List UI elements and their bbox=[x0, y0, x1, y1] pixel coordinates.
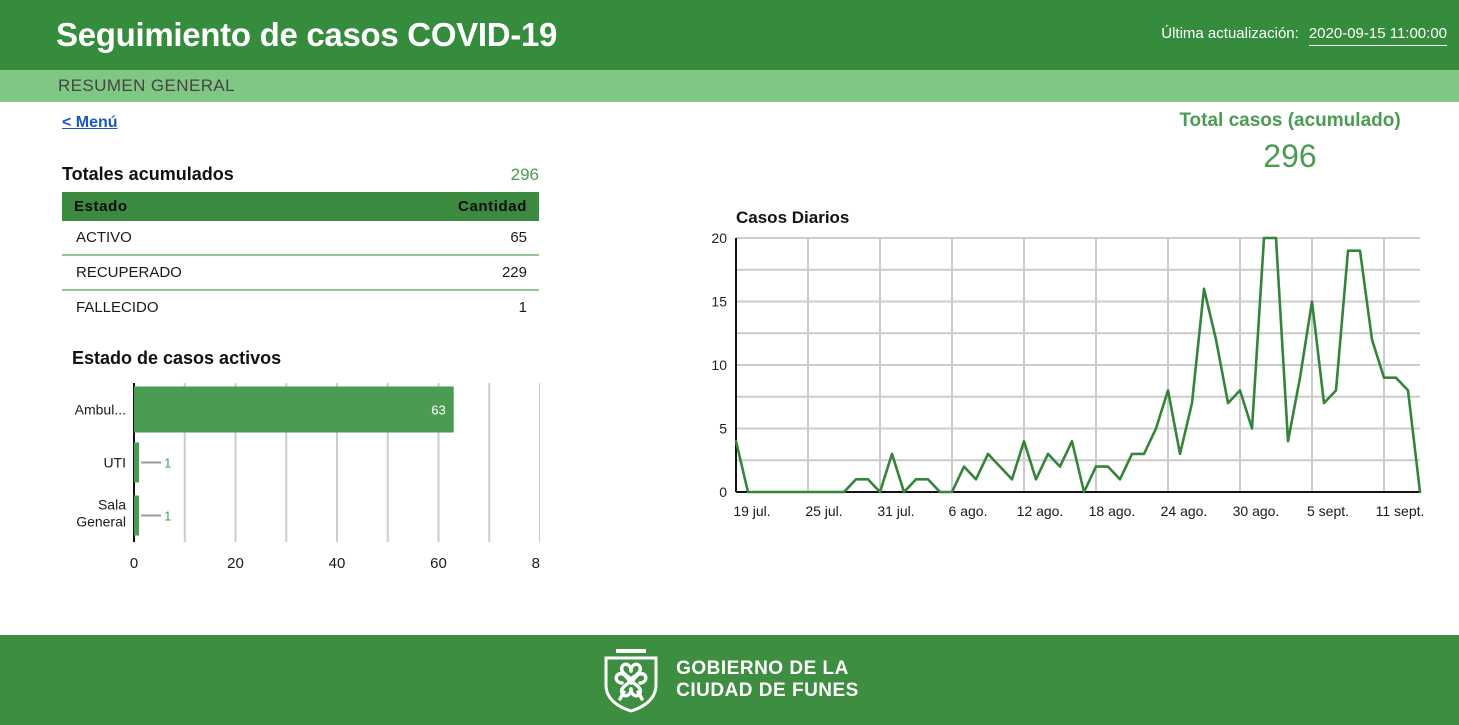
footer-logo-line-1: GOBIERNO DE LA bbox=[676, 658, 859, 680]
line-chart-title: Casos Diarios bbox=[736, 208, 849, 228]
svg-text:1: 1 bbox=[164, 509, 171, 524]
svg-text:30 ago.: 30 ago. bbox=[1233, 503, 1280, 519]
table-row: FALLECIDO 1 bbox=[62, 290, 539, 324]
table-row: ACTIVO 65 bbox=[62, 221, 539, 255]
cell-cantidad: 229 bbox=[301, 255, 540, 290]
svg-text:Sala: Sala bbox=[98, 497, 126, 513]
table-row: RECUPERADO 229 bbox=[62, 255, 539, 290]
bar-chart: Ambul...63UTI1SalaGeneral1020406080 bbox=[62, 377, 540, 572]
svg-text:80: 80 bbox=[532, 555, 540, 572]
svg-text:20: 20 bbox=[227, 555, 244, 572]
column-header-estado[interactable]: Estado bbox=[62, 192, 301, 221]
last-update-underline bbox=[1309, 45, 1447, 46]
right-column: Total casos (acumulado) 296 Casos Diario… bbox=[690, 102, 1450, 662]
svg-text:5: 5 bbox=[719, 421, 727, 437]
shield-clover-icon bbox=[600, 647, 662, 713]
svg-text:31 jul.: 31 jul. bbox=[877, 503, 914, 519]
svg-text:40: 40 bbox=[329, 555, 346, 572]
cell-estado: RECUPERADO bbox=[62, 255, 301, 290]
column-header-cantidad[interactable]: Cantidad bbox=[301, 192, 540, 221]
bar-chart-title: Estado de casos activos bbox=[72, 348, 542, 369]
svg-text:10: 10 bbox=[711, 357, 727, 373]
svg-text:25 jul.: 25 jul. bbox=[805, 503, 842, 519]
totals-table-body: ACTIVO 65 RECUPERADO 229 FALLECIDO 1 bbox=[62, 221, 539, 324]
last-update-value-wrap: 2020-09-15 11:00:00 bbox=[1309, 25, 1447, 46]
main-content: < Menú Totales acumulados 296 Estado Can… bbox=[0, 102, 1459, 690]
totals-table-head: Estado Cantidad bbox=[62, 192, 539, 221]
svg-text:15: 15 bbox=[711, 294, 727, 310]
svg-text:General: General bbox=[76, 514, 126, 530]
bar-chart-svg: Ambul...63UTI1SalaGeneral1020406080 bbox=[62, 377, 540, 572]
section-subheader-label: RESUMEN GENERAL bbox=[58, 76, 235, 96]
totals-table: Estado Cantidad ACTIVO 65 RECUPERADO 229… bbox=[62, 192, 539, 324]
section-subheader: RESUMEN GENERAL bbox=[0, 70, 1459, 102]
site-footer: GOBIERNO DE LA CIUDAD DE FUNES bbox=[0, 635, 1459, 725]
svg-text:11 sept.: 11 sept. bbox=[1376, 503, 1425, 519]
totals-total-value: 296 bbox=[511, 165, 539, 185]
svg-text:6 ago.: 6 ago. bbox=[949, 503, 988, 519]
cell-cantidad: 65 bbox=[301, 221, 540, 255]
kpi-label: Total casos (acumulado) bbox=[1140, 110, 1440, 132]
svg-text:Ambul...: Ambul... bbox=[75, 402, 126, 418]
footer-logo-line-2: CIUDAD DE FUNES bbox=[676, 680, 859, 702]
last-update-label: Última actualización: bbox=[1161, 25, 1299, 42]
totals-header: Totales acumulados 296 bbox=[62, 164, 542, 185]
total-cases-kpi: Total casos (acumulado) 296 bbox=[1140, 110, 1440, 175]
left-column: Totales acumulados 296 Estado Cantidad A… bbox=[62, 164, 542, 572]
page-title: Seguimiento de casos COVID-19 bbox=[56, 16, 557, 54]
last-update-block: Última actualización: 2020-09-15 11:00:0… bbox=[1161, 25, 1451, 46]
svg-text:18 ago.: 18 ago. bbox=[1089, 503, 1136, 519]
footer-logo-text: GOBIERNO DE LA CIUDAD DE FUNES bbox=[676, 658, 859, 703]
totals-header-row: Estado Cantidad bbox=[62, 192, 539, 221]
cell-cantidad: 1 bbox=[301, 290, 540, 324]
last-update-value: 2020-09-15 11:00:00 bbox=[1309, 25, 1447, 45]
totals-title: Totales acumulados bbox=[62, 164, 234, 185]
cell-estado: ACTIVO bbox=[62, 221, 301, 255]
svg-text:19 jul.: 19 jul. bbox=[733, 503, 770, 519]
kpi-value: 296 bbox=[1140, 138, 1440, 175]
svg-text:0: 0 bbox=[719, 484, 727, 500]
svg-text:63: 63 bbox=[431, 403, 445, 418]
svg-text:0: 0 bbox=[130, 555, 138, 572]
svg-text:12 ago.: 12 ago. bbox=[1017, 503, 1064, 519]
line-chart-svg: 0510152019 jul.25 jul.31 jul.6 ago.12 ag… bbox=[690, 230, 1450, 520]
app-header: Seguimiento de casos COVID-19 Última act… bbox=[0, 0, 1459, 70]
svg-text:1: 1 bbox=[164, 456, 171, 471]
daily-cases-line-chart: 0510152019 jul.25 jul.31 jul.6 ago.12 ag… bbox=[690, 230, 1450, 520]
cell-estado: FALLECIDO bbox=[62, 290, 301, 324]
svg-text:60: 60 bbox=[430, 555, 447, 572]
svg-text:UTI: UTI bbox=[103, 455, 126, 471]
active-cases-bar-section: Estado de casos activos Ambul...63UTI1Sa… bbox=[62, 348, 542, 572]
menu-back-link[interactable]: < Menú bbox=[62, 114, 118, 132]
svg-text:20: 20 bbox=[711, 230, 727, 246]
svg-text:24 ago.: 24 ago. bbox=[1161, 503, 1208, 519]
svg-text:5 sept.: 5 sept. bbox=[1307, 503, 1349, 519]
